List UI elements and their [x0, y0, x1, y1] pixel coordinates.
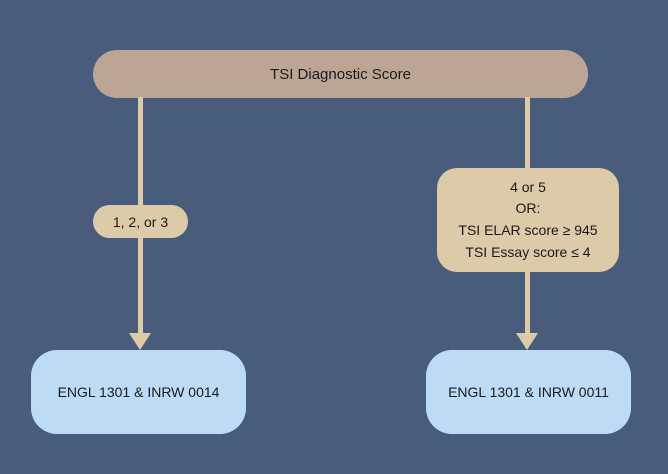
node-tsi-diagnostic-score[interactable]: TSI Diagnostic Score — [93, 50, 588, 98]
condition-label-right[interactable]: 4 or 5 OR: TSI ELAR score ≥ 945 TSI Essa… — [437, 168, 619, 272]
condition-label-left[interactable]: 1, 2, or 3 — [93, 205, 188, 238]
condition-line-2: OR: — [516, 198, 541, 220]
outcome-label: ENGL 1301 & INRW 0011 — [448, 384, 609, 400]
arrowhead-left-icon — [129, 333, 151, 350]
condition-line-3: TSI ELAR score ≥ 945 — [458, 220, 597, 242]
condition-line-4: TSI Essay score ≤ 4 — [465, 242, 590, 264]
condition-line-1: 4 or 5 — [510, 177, 546, 199]
outcome-node-right[interactable]: ENGL 1301 & INRW 0011 — [426, 350, 631, 434]
flowchart-canvas: TSI Diagnostic Score 1, 2, or 3 4 or 5 O… — [0, 0, 668, 474]
arrowhead-right-icon — [516, 333, 538, 350]
condition-label-text: 1, 2, or 3 — [113, 214, 168, 230]
outcome-node-left[interactable]: ENGL 1301 & INRW 0014 — [31, 350, 246, 434]
node-label: TSI Diagnostic Score — [270, 66, 411, 83]
outcome-label: ENGL 1301 & INRW 0014 — [58, 384, 220, 400]
